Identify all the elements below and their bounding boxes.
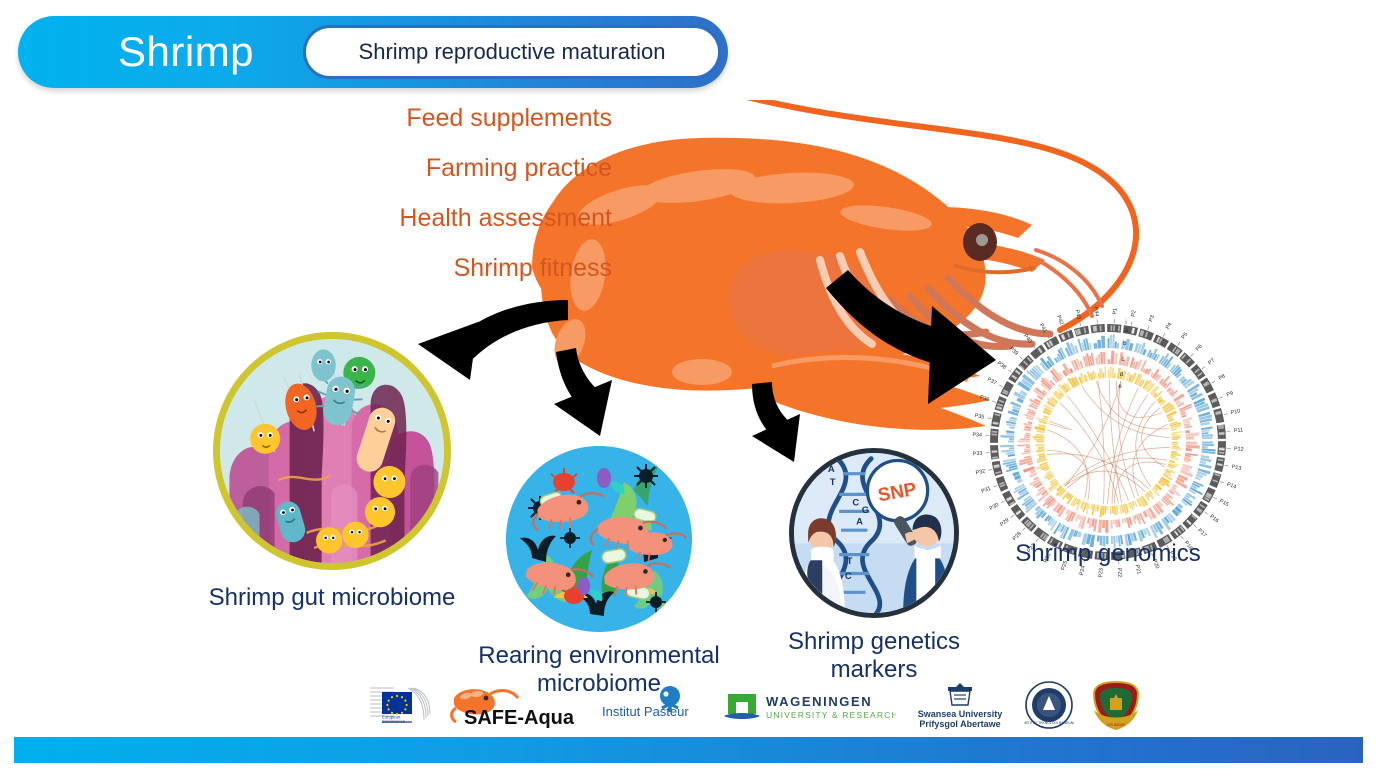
header-subtitle-pill: Shrimp reproductive maturation	[303, 25, 721, 79]
circos-track-label: e	[1118, 384, 1122, 390]
header-subtitle: Shrimp reproductive maturation	[359, 39, 666, 65]
focus-label-feed-supplements: Feed supplements	[180, 106, 612, 131]
circos-track-label: c	[1121, 357, 1124, 363]
circos-chromosome-label: P5	[1181, 332, 1190, 341]
institut-pasteur-text: Institut Pasteur	[602, 704, 689, 719]
svg-text:C: C	[845, 570, 852, 581]
wageningen-line-1: WAGENINGEN	[766, 694, 872, 709]
itb-logo: INSTITUT TEKNOLOGI BANDUNG	[1024, 680, 1074, 730]
circos-chromosome-label: P14	[1226, 482, 1237, 491]
circos-chromosome-label: P22	[1116, 567, 1123, 577]
node-caption-genomics: Shrimp genomics	[1015, 540, 1200, 568]
rearing-environment-icon	[506, 446, 692, 632]
node-caption-line-1: Rearing environmental	[478, 642, 719, 670]
circos-chromosome-label: P40	[1022, 333, 1033, 344]
circos-chromosome-label: P8	[1218, 373, 1227, 381]
focus-label-shrimp-fitness: Shrimp fitness	[180, 256, 612, 281]
node-caption-gut-microbiome: Shrimp gut microbiome	[209, 584, 456, 612]
svg-text:T: T	[847, 555, 853, 566]
circos-chromosome-label: P23	[1098, 568, 1105, 578]
svg-text:C: C	[852, 497, 859, 508]
circos-chromosome-label: P2	[1130, 310, 1137, 318]
circos-chromosome-label: P7	[1207, 358, 1216, 367]
circos-chromosome-label: P41	[1038, 323, 1048, 334]
circos-chromosome-label: P16	[1208, 514, 1219, 524]
wageningen-line-2: UNIVERSITY & RESEARCH	[766, 710, 896, 720]
circos-chromosome-label: P37	[986, 377, 997, 387]
node-rearing-microbiome: Rearing environmental microbiome	[506, 446, 692, 632]
itb-text: INSTITUT TEKNOLOGI BANDUNG	[1024, 721, 1074, 725]
node-genetics-markers: A T C G A T C SNP	[789, 448, 959, 618]
partner-logo-bar: European Commission SAFE-Aqua	[368, 676, 1128, 734]
circos-chromosome-label: P13	[1231, 464, 1242, 472]
circos-chromosome-label: P10	[1230, 408, 1241, 416]
circos-track-label: i	[1125, 320, 1126, 326]
circos-chromosome-label: P38	[996, 360, 1007, 370]
institut-pasteur-logo: Institut Pasteur	[602, 682, 706, 728]
focus-label-health-assessment: Health assessment	[180, 206, 612, 231]
swansea-line-2: Prifysgol Abertawe	[919, 719, 1000, 729]
circos-chromosome-label: P4	[1165, 322, 1173, 331]
focus-label-list: Feed supplements Farming practice Health…	[180, 106, 612, 306]
circos-chromosome-label: P36	[979, 394, 990, 403]
safe-aqua-text: SAFE-Aqua	[464, 707, 575, 728]
circos-chromosome-label: P9	[1226, 390, 1234, 398]
header-banner: Shrimp Shrimp reproductive maturation	[18, 16, 728, 88]
svg-text:G: G	[862, 504, 869, 515]
circos-chromosome-label: P17	[1196, 528, 1207, 539]
circos-chromosome-label: P29	[999, 517, 1010, 528]
circos-chromosome-label: P43	[1073, 309, 1081, 320]
node-gut-microbiome: Shrimp gut microbiome	[213, 332, 451, 570]
circos-chromosome-label: P32	[975, 468, 986, 476]
circos-chromosome-label: P6	[1195, 344, 1204, 353]
node-caption-line-1: Shrimp genetics	[788, 628, 960, 656]
circos-chromosome-label: P35	[974, 413, 985, 421]
focus-label-farming-practice: Farming practice	[180, 156, 612, 181]
snp-genetics-icon: A T C G A T C SNP	[789, 448, 959, 618]
ec-line-2: Commission	[382, 719, 406, 724]
circos-chromosome-label: P1	[1112, 308, 1118, 315]
circos-chromosome-label: P42	[1055, 315, 1064, 326]
bottom-accent-bar	[14, 737, 1363, 763]
circos-chromosome-label: P33	[973, 451, 983, 458]
svg-text:A: A	[856, 516, 863, 527]
poster-canvas: Shrimp Shrimp reproductive maturation	[0, 0, 1377, 769]
svg-text:A: A	[828, 463, 835, 474]
circos-chromosome-label: P44	[1093, 307, 1100, 317]
circos-chromosome-label: P15	[1218, 498, 1229, 508]
node-genomics: P1P2P3P4P5P6P7P8P9P10P11P12P13P14P15P16P…	[962, 296, 1254, 588]
circos-chromosome-label: P31	[981, 486, 992, 495]
safe-aqua-logo: SAFE-Aqua	[450, 682, 586, 728]
svg-text:T: T	[830, 476, 836, 487]
swansea-line-1: Swansea University	[918, 709, 1003, 719]
circos-chromosome-label: P11	[1234, 427, 1244, 434]
uplb-text: LOS BAÑOS	[1107, 722, 1125, 727]
swansea-university-logo: Swansea University Prifysgol Abertawe	[912, 681, 1008, 729]
uplb-crest-logo: LOS BAÑOS	[1090, 680, 1142, 730]
page-title: Shrimp	[118, 28, 254, 76]
circos-chromosome-label: P34	[972, 432, 982, 439]
circos-track-label: d	[1120, 372, 1123, 378]
european-commission-logo: European Commission	[368, 682, 434, 728]
gut-microbiome-icon	[213, 332, 451, 570]
wageningen-logo: WAGENINGEN UNIVERSITY & RESEARCH	[722, 682, 896, 728]
circos-chromosome-label: P30	[989, 502, 1000, 512]
circos-chromosome-label: P3	[1148, 315, 1156, 323]
circos-chromosome-label: P12	[1234, 446, 1244, 453]
circos-chromosome-label: P39	[1008, 346, 1019, 357]
